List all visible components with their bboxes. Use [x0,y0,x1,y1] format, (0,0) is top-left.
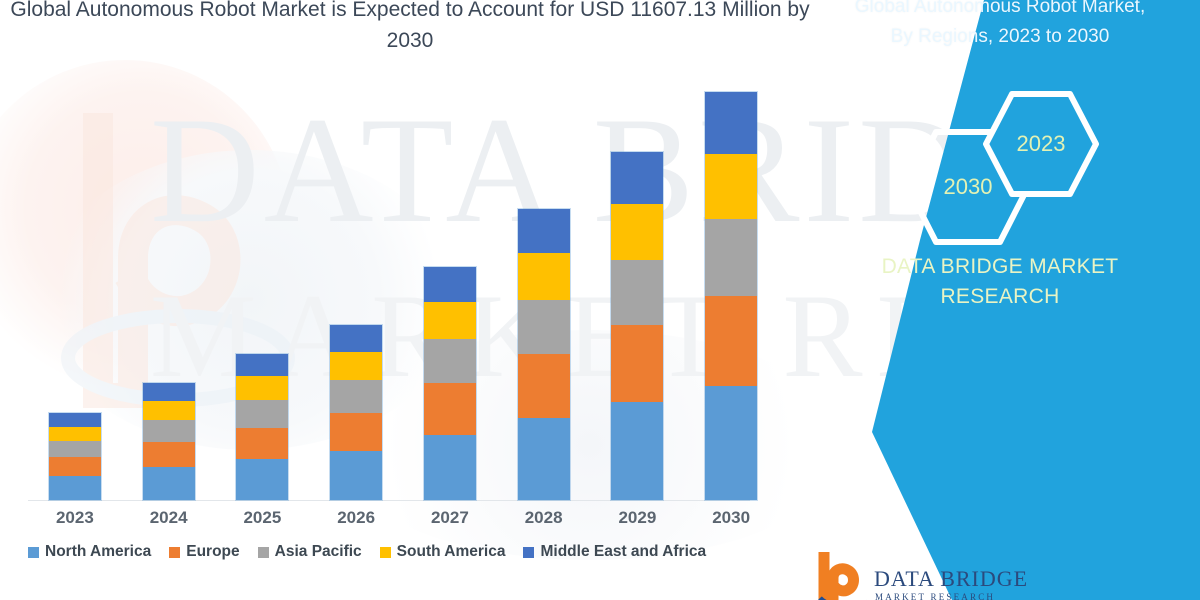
x-axis-label-2030: 2030 [686,508,776,528]
bar-segment-2026-south-america[interactable] [330,352,382,380]
legend-swatch-icon [28,547,39,558]
bar-segment-2030-europe[interactable] [705,296,757,386]
bar-segment-2023-asia-pacific[interactable] [49,441,101,457]
bar-2027[interactable] [424,267,476,500]
bar-segment-2025-asia-pacific[interactable] [236,400,288,428]
legend-item-asia-pacific[interactable]: Asia Pacific [258,543,362,561]
bar-segment-2030-middle-east-and-africa[interactable] [705,92,757,154]
legend-item-south-america[interactable]: South America [380,543,506,561]
bar-2024[interactable] [143,383,195,500]
company-logo-name: DATA BRIDGE [874,566,1028,592]
bar-segment-2028-middle-east-and-africa[interactable] [518,209,570,253]
bar-segment-2025-north-america[interactable] [236,459,288,500]
brand-panel-title-line-2: By Regions, 2023 to 2030 [800,22,1200,52]
brand-panel-title: Global Autonomous Robot Market, By Regio… [800,0,1200,52]
bar-segment-2028-asia-pacific[interactable] [518,300,570,355]
bar-2023[interactable] [49,413,101,500]
legend-label: Asia Pacific [275,543,362,561]
bar-2030[interactable] [705,92,757,500]
bar-2026[interactable] [330,325,382,500]
x-axis-line [28,500,750,501]
x-axis-label-2026: 2026 [311,508,401,528]
bar-segment-2029-europe[interactable] [611,325,663,402]
plot-area [28,60,778,500]
infographic-canvas: DATA BRIDGE MARKET RESEARCH Global Auton… [0,0,1200,600]
x-axis-label-2023: 2023 [30,508,120,528]
legend-label: South America [397,543,506,561]
legend-swatch-icon [380,547,391,558]
legend-label: Europe [186,543,239,561]
chart-legend: North AmericaEuropeAsia PacificSouth Ame… [28,540,788,564]
x-axis-label-2028: 2028 [499,508,589,528]
bar-segment-2024-middle-east-and-africa[interactable] [143,383,195,400]
bar-2025[interactable] [236,354,288,500]
legend-item-europe[interactable]: Europe [169,543,239,561]
bar-segment-2025-south-america[interactable] [236,376,288,399]
bar-2029[interactable] [611,152,663,501]
bar-segment-2027-europe[interactable] [424,383,476,434]
bar-segment-2027-south-america[interactable] [424,302,476,339]
bar-segment-2026-middle-east-and-africa[interactable] [330,325,382,352]
bar-segment-2030-asia-pacific[interactable] [705,219,757,296]
legend-item-middle-east-and-africa[interactable]: Middle East and Africa [523,543,706,561]
hexagon-2023-label: 2023 [1017,131,1066,157]
brand-name: DATA BRIDGE MARKET RESEARCH [800,252,1200,312]
hexagon-2023: 2023 [982,90,1100,198]
bar-segment-2030-south-america[interactable] [705,154,757,219]
bar-segment-2026-north-america[interactable] [330,451,382,500]
bar-segment-2027-asia-pacific[interactable] [424,339,476,383]
bar-segment-2027-middle-east-and-africa[interactable] [424,267,476,302]
bar-2028[interactable] [518,209,570,500]
hexagon-2030-label: 2030 [944,174,993,200]
legend-label: North America [45,543,151,561]
company-logo-subtitle: MARKET RESEARCH [875,592,995,600]
chart-region: Global Autonomous Robot Market is Expect… [0,0,812,600]
bar-segment-2023-middle-east-and-africa[interactable] [49,413,101,427]
legend-label: Middle East and Africa [540,543,706,561]
bar-segment-2023-europe[interactable] [49,457,101,476]
legend-swatch-icon [523,547,534,558]
bar-segment-2024-north-america[interactable] [143,467,195,500]
bar-segment-2028-south-america[interactable] [518,253,570,300]
x-axis-label-2025: 2025 [217,508,307,528]
bar-segment-2023-north-america[interactable] [49,476,101,500]
bar-segment-2026-europe[interactable] [330,413,382,451]
brand-name-line-1: DATA BRIDGE MARKET [800,252,1200,282]
x-axis-label-2029: 2029 [592,508,682,528]
bar-segment-2029-asia-pacific[interactable] [611,260,663,325]
chart-title: Global Autonomous Robot Market is Expect… [10,0,810,56]
bar-segment-2029-south-america[interactable] [611,204,663,260]
bar-segment-2027-north-america[interactable] [424,435,476,500]
x-axis-tick-labels: 20232024202520262027202820292030 [28,508,750,534]
bar-segment-2030-north-america[interactable] [705,386,757,500]
bar-segment-2028-north-america[interactable] [518,418,570,500]
bar-segment-2023-south-america[interactable] [49,427,101,441]
x-axis-label-2024: 2024 [124,508,214,528]
bar-segment-2025-middle-east-and-africa[interactable] [236,354,288,376]
x-axis-label-2027: 2027 [405,508,495,528]
company-logo-mark-icon [818,552,870,600]
bar-segment-2028-europe[interactable] [518,354,570,418]
bar-segment-2029-middle-east-and-africa[interactable] [611,152,663,204]
legend-swatch-icon [169,547,180,558]
legend-item-north-america[interactable]: North America [28,543,151,561]
bar-segment-2029-north-america[interactable] [611,402,663,500]
bar-segment-2024-asia-pacific[interactable] [143,420,195,442]
brand-name-line-2: RESEARCH [800,282,1200,312]
brand-panel: Global Autonomous Robot Market, By Regio… [800,0,1200,600]
bar-segment-2024-south-america[interactable] [143,401,195,420]
bar-segment-2026-asia-pacific[interactable] [330,380,382,413]
bar-segment-2025-europe[interactable] [236,428,288,459]
legend-swatch-icon [258,547,269,558]
bar-segment-2024-europe[interactable] [143,442,195,468]
brand-panel-title-line-1: Global Autonomous Robot Market, [800,0,1200,22]
company-logo: DATA BRIDGE MARKET RESEARCH [818,552,1068,600]
